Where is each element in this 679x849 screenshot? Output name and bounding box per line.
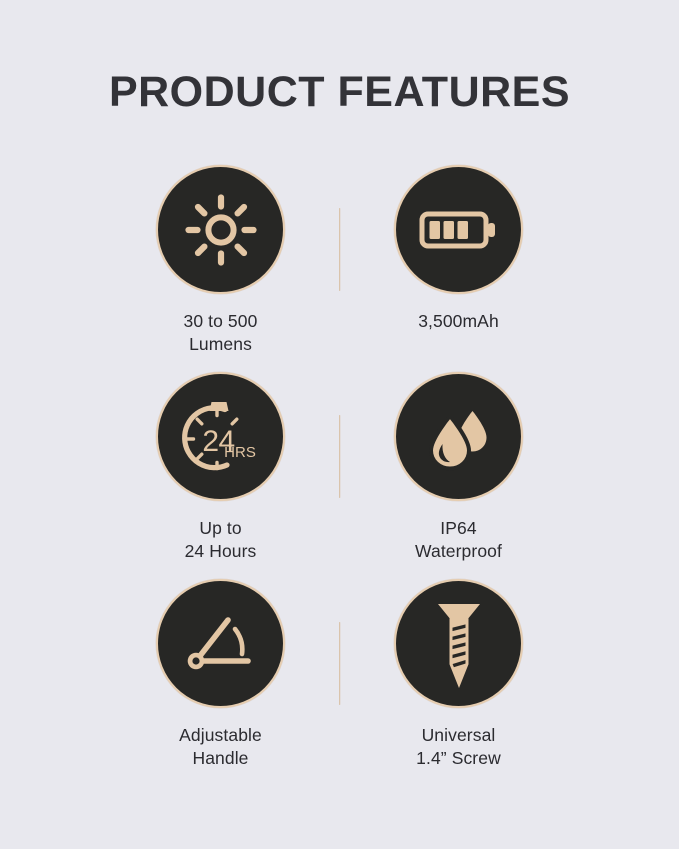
column-divider (339, 622, 341, 705)
feature-row: Adjustable Handle (0, 579, 679, 786)
feature-label: IP64 Waterproof (415, 517, 502, 563)
product-features-infographic: PRODUCT FEATURES (0, 0, 679, 849)
feature-label: 3,500mAh (418, 310, 499, 333)
feature-row: 30 to 500 Lumens 3,500mAh (0, 165, 679, 372)
feature-item-waterproof: IP64 Waterproof (340, 372, 578, 563)
battery-icon (419, 207, 499, 253)
feature-item-runtime: 24 HRS Up to 24 Hours (102, 372, 340, 563)
stopwatch-unit: HRS (224, 444, 256, 461)
feature-item-screw: Universal 1.4” Screw (340, 579, 578, 770)
feature-icon-circle (394, 165, 523, 294)
column-divider (339, 208, 341, 291)
column-divider (339, 415, 341, 498)
feature-label: Universal 1.4” Screw (416, 724, 501, 770)
screw-icon (429, 600, 489, 688)
feature-row: 24 HRS Up to 24 Hours (0, 372, 679, 579)
feature-icon-circle: 24 HRS (156, 372, 285, 501)
feature-icon-circle (156, 165, 285, 294)
features-grid: 30 to 500 Lumens 3,500mAh (0, 165, 679, 786)
feature-label: Adjustable Handle (179, 724, 262, 770)
water-drops-icon (422, 400, 496, 474)
feature-item-battery: 3,500mAh (340, 165, 578, 333)
feature-icon-circle (156, 579, 285, 708)
feature-item-handle: Adjustable Handle (102, 579, 340, 770)
feature-item-lumens: 30 to 500 Lumens (102, 165, 340, 356)
feature-icon-circle (394, 372, 523, 501)
feature-label: 30 to 500 Lumens (184, 310, 258, 356)
sun-brightness-icon (184, 193, 258, 267)
angle-protractor-icon (183, 609, 259, 679)
feature-label: Up to 24 Hours (185, 517, 257, 563)
page-title: PRODUCT FEATURES (0, 68, 679, 117)
stopwatch-24-hrs-icon: 24 HRS (178, 395, 264, 479)
feature-icon-circle (394, 579, 523, 708)
